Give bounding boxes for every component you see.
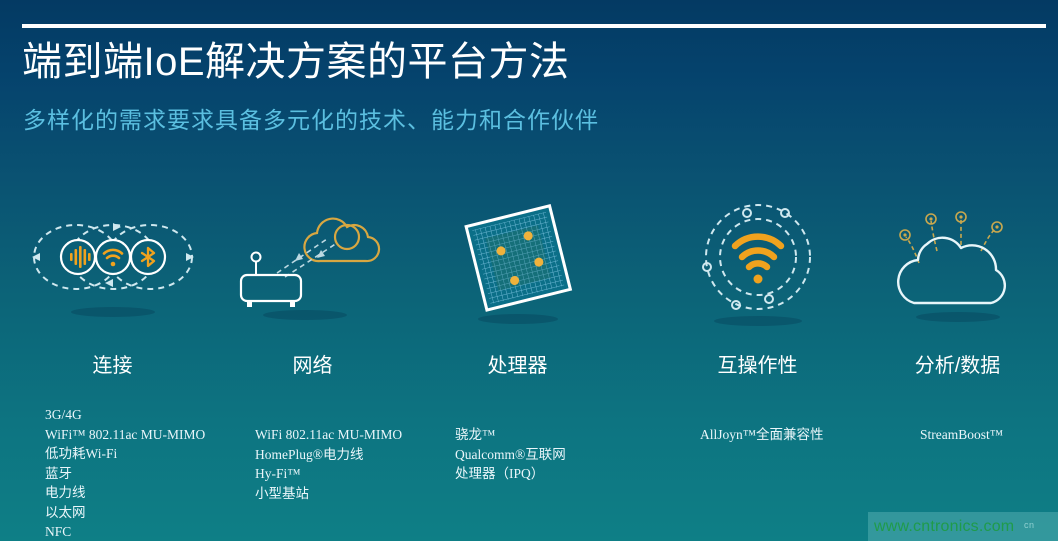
column-items-network: WiFi 802.11ac MU-MIMO HomePlug®电力线 Hy-Fi… [255, 425, 410, 503]
list-item: HomePlug®电力线 [255, 445, 410, 465]
list-item: NFC [45, 522, 215, 541]
page-subtitle: 多样化的需求要求具备多元化的技术、能力和合作伙伴 [23, 104, 599, 136]
column-header-processor: 处理器 [415, 353, 620, 379]
column-network: 网络 WiFi 802.11ac MU-MIMO HomePlug®电力线 Hy… [215, 195, 410, 525]
list-item: WiFi 802.11ac MU-MIMO [255, 425, 410, 445]
router-cloud-icon [225, 195, 400, 325]
header-divider-rule [22, 24, 1046, 28]
icon-container-processor [415, 195, 620, 345]
column-header-network: 网络 [215, 353, 410, 379]
column-header-connect: 连接 [10, 353, 215, 379]
slide-canvas: 端到端IoE解决方案的平台方法 多样化的需求要求具备多元化的技术、能力和合作伙伴 [0, 0, 1058, 541]
watermark-url: www.cntronics.com [874, 518, 1014, 536]
column-items-interop: AllJoyn™全面兼容性 [700, 425, 860, 445]
list-item: Qualcomm®互联网 [455, 445, 620, 465]
column-header-analytics: 分析/数据 [865, 353, 1050, 379]
list-item: Hy-Fi™ [255, 464, 410, 484]
list-item: AllJoyn™全面兼容性 [700, 425, 860, 445]
watermark-suffix: cn [1024, 520, 1035, 530]
column-connect: 连接 3G/4G WiFi™ 802.11ac MU-MIMO 低功耗Wi-Fi… [10, 195, 215, 525]
list-item: 蓝牙 [45, 464, 215, 484]
icon-container-analytics [865, 195, 1050, 345]
chip-icon [433, 195, 603, 335]
column-items-connect: 3G/4G WiFi™ 802.11ac MU-MIMO 低功耗Wi-Fi 蓝牙… [45, 405, 215, 541]
column-items-analytics: StreamBoost™ [920, 425, 1050, 445]
list-item: 处理器（IPQ） [455, 464, 620, 484]
column-interop: 互操作性 AllJoyn™全面兼容性 [655, 195, 860, 525]
list-item: 骁龙™ [455, 425, 620, 445]
list-item: 电力线 [45, 483, 215, 503]
list-item: 以太网 [45, 503, 215, 523]
connectivity-orbit-icon [18, 195, 208, 325]
column-analytics: 分析/数据 StreamBoost™ [865, 195, 1050, 525]
list-item: StreamBoost™ [920, 425, 1050, 445]
list-item: WiFi™ 802.11ac MU-MIMO [45, 425, 215, 445]
cloud-data-icon [873, 195, 1043, 340]
list-item: 小型基站 [255, 484, 410, 504]
list-item: 低功耗Wi-Fi [45, 444, 215, 464]
wifi-orbit-icon [673, 195, 843, 335]
column-processor: 处理器 骁龙™ Qualcomm®互联网 处理器（IPQ） [415, 195, 620, 525]
icon-container-connect [10, 195, 215, 345]
page-title: 端到端IoE解决方案的平台方法 [22, 36, 570, 88]
column-header-interop: 互操作性 [655, 353, 860, 379]
list-item: 3G/4G [45, 405, 215, 425]
icon-container-interop [655, 195, 860, 345]
column-items-processor: 骁龙™ Qualcomm®互联网 处理器（IPQ） [455, 425, 620, 484]
icon-container-network [215, 195, 410, 345]
